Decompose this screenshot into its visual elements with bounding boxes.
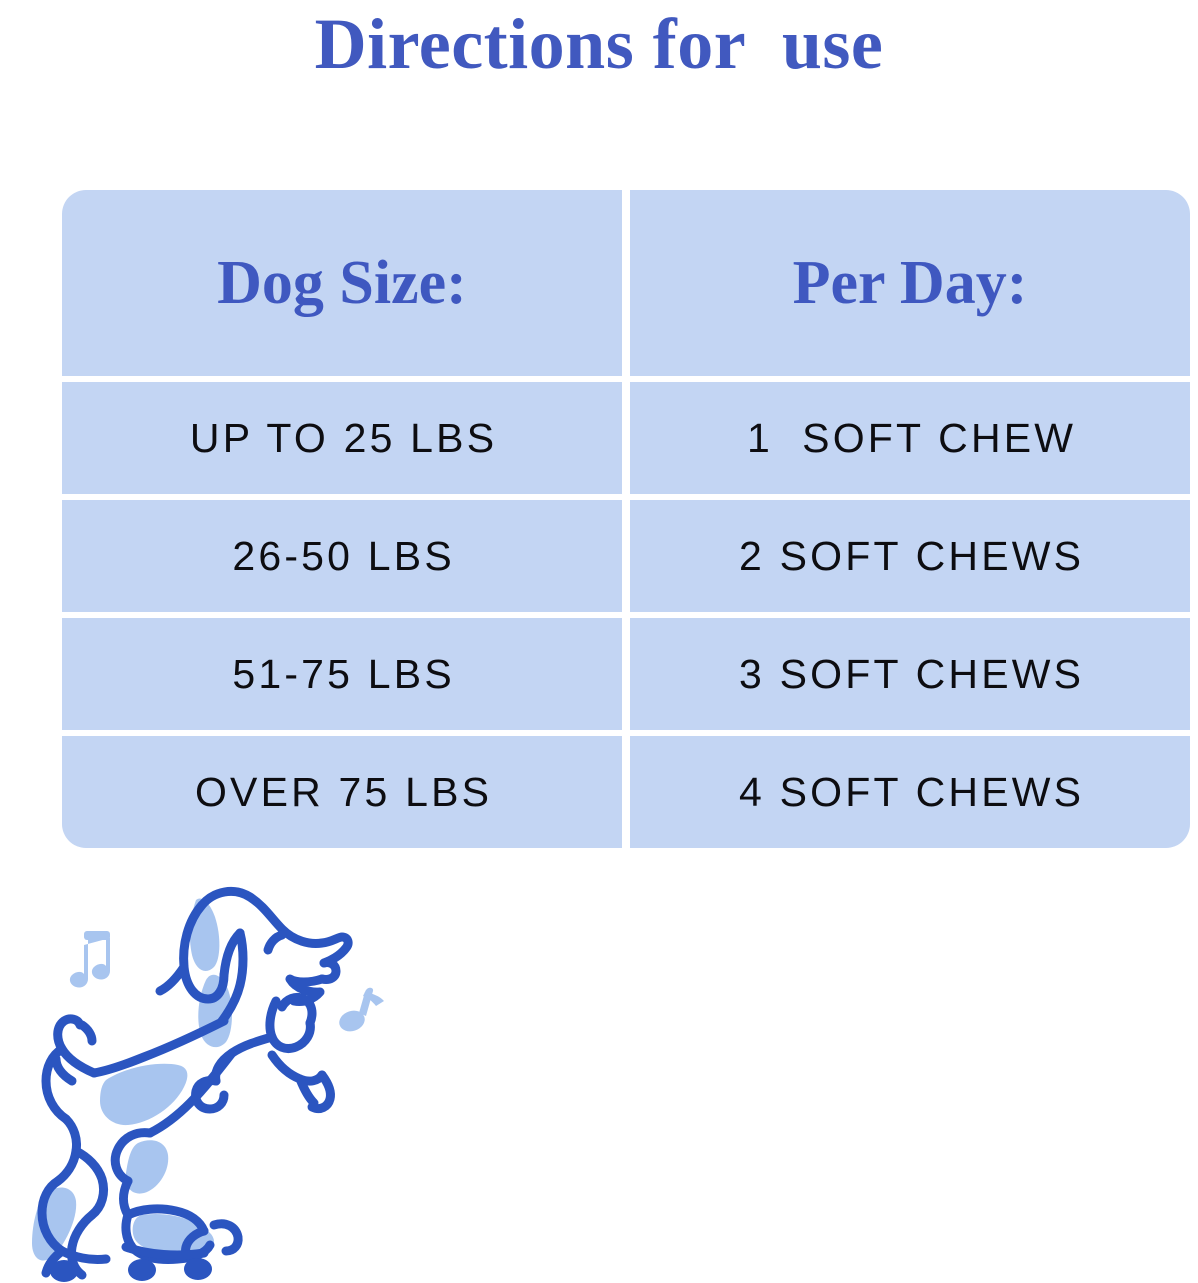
table-cell-value-per-day: 1 SOFT CHEW <box>744 416 1076 460</box>
table-cell-value-per-day: 3 SOFT CHEWS <box>736 652 1084 696</box>
music-note-single-icon <box>337 988 384 1035</box>
table-cell-value-dog-size: 26-50 LBS <box>229 534 455 578</box>
table-cell-value-dog-size: 51-75 LBS <box>229 652 455 696</box>
music-note-double-icon <box>70 931 110 988</box>
dosage-table: Dog Size: Per Day: UP TO 25 LBS 1 SOFT C… <box>62 190 1190 856</box>
table-header-cell-dog-size: Dog Size: <box>62 190 622 376</box>
table-cell-dog-size: 51-75 LBS <box>62 618 622 730</box>
table-cell-value-per-day: 4 SOFT CHEWS <box>736 770 1084 814</box>
table-cell-value-dog-size: UP TO 25 LBS <box>187 416 498 460</box>
table-row: 51-75 LBS 3 SOFT CHEWS <box>62 618 1190 730</box>
table-header-label-dog-size: Dog Size: <box>217 252 467 314</box>
table-cell-value-dog-size: OVER 75 LBS <box>192 770 492 814</box>
table-header-label-per-day: Per Day: <box>793 252 1028 314</box>
dancing-dog-illustration <box>18 875 418 1283</box>
table-row: UP TO 25 LBS 1 SOFT CHEW <box>62 382 1190 494</box>
table-cell-dog-size: OVER 75 LBS <box>62 736 622 848</box>
page-title: Directions for use <box>0 2 1198 86</box>
table-row: 26-50 LBS 2 SOFT CHEWS <box>62 500 1190 612</box>
table-row: OVER 75 LBS 4 SOFT CHEWS <box>62 736 1190 848</box>
table-cell-per-day: 4 SOFT CHEWS <box>630 736 1190 848</box>
table-cell-per-day: 1 SOFT CHEW <box>630 382 1190 494</box>
table-header-cell-per-day: Per Day: <box>630 190 1190 376</box>
table-header-row: Dog Size: Per Day: <box>62 190 1190 376</box>
dancing-dog-svg <box>18 875 418 1283</box>
table-cell-dog-size: UP TO 25 LBS <box>62 382 622 494</box>
table-cell-per-day: 3 SOFT CHEWS <box>630 618 1190 730</box>
table-cell-per-day: 2 SOFT CHEWS <box>630 500 1190 612</box>
table-cell-value-per-day: 2 SOFT CHEWS <box>736 534 1084 578</box>
table-cell-dog-size: 26-50 LBS <box>62 500 622 612</box>
